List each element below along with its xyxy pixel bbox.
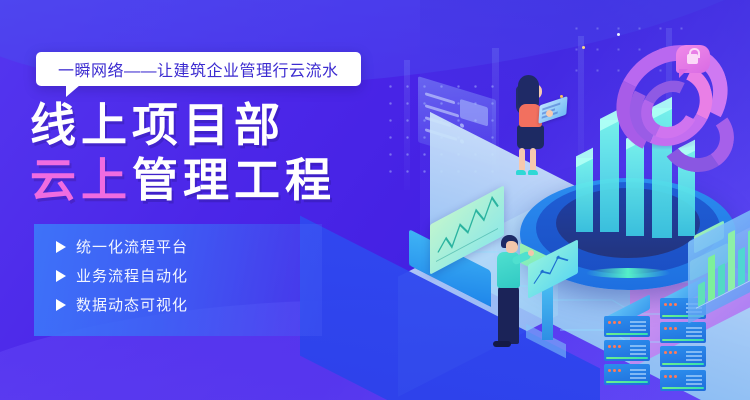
page-title: 线上项目部 云上管理工程 (30, 101, 336, 205)
sparkle-dot (648, 238, 651, 241)
play-triangle-icon (56, 241, 66, 253)
tagline-text: 一瞬网络——让建筑企业管理行云流水 (58, 57, 339, 81)
feature-label: 数据动态可视化 (76, 294, 188, 315)
promo-banner: 一瞬网络——让建筑企业管理行云流水 线上项目部 云上管理工程 统一化流程平台 业… (0, 0, 750, 400)
sparkle-dot (617, 33, 620, 36)
play-triangle-icon (56, 270, 66, 282)
feature-item-1[interactable]: 业务流程自动化 (56, 265, 188, 286)
feature-label: 业务流程自动化 (76, 265, 188, 286)
headline-line-2: 云上管理工程 (30, 156, 336, 205)
headline-rest-text: 管理工程 (132, 154, 336, 206)
dot-grid-pattern (382, 78, 502, 178)
feature-item-0[interactable]: 统一化流程平台 (56, 236, 188, 257)
headline-accent-text: 云上 (30, 154, 132, 206)
sparkle-dot (582, 46, 585, 49)
sparkle-dot (690, 212, 693, 215)
feature-label: 统一化流程平台 (76, 236, 188, 257)
tagline-ribbon: 一瞬网络——让建筑企业管理行云流水 (36, 52, 361, 86)
feature-list: 统一化流程平台 业务流程自动化 数据动态可视化 (56, 236, 188, 315)
sparkle-dot (700, 57, 703, 60)
sparkle-dot (652, 194, 655, 197)
feature-item-2[interactable]: 数据动态可视化 (56, 294, 188, 315)
headline-line-1: 线上项目部 (30, 101, 336, 150)
ribbon-tail-icon (66, 85, 80, 97)
play-triangle-icon (56, 299, 66, 311)
sparkle-dot (560, 95, 563, 98)
sparkle-dot (525, 118, 528, 121)
sparkle-dot (607, 243, 610, 246)
